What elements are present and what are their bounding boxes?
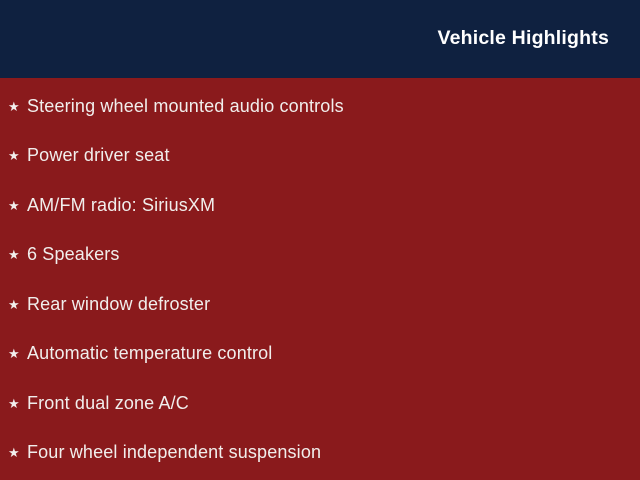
list-item-label: Front dual zone A/C (27, 394, 189, 412)
list-item: ★Rear window defroster (8, 291, 210, 317)
list-item-label: Rear window defroster (27, 295, 210, 313)
vehicle-highlights-slide: Vehicle Highlights ★Steering wheel mount… (0, 0, 640, 480)
list-item-label: Four wheel independent suspension (27, 443, 321, 461)
page-title: Vehicle Highlights (437, 29, 609, 49)
list-item: ★Front dual zone A/C (8, 390, 189, 416)
star-icon: ★ (8, 199, 27, 212)
star-icon: ★ (8, 149, 27, 162)
list-item: ★6 Speakers (8, 241, 120, 267)
list-item-label: Automatic temperature control (27, 344, 272, 362)
list-item-label: Steering wheel mounted audio controls (27, 97, 344, 115)
star-icon: ★ (8, 446, 27, 459)
slide-body: ★Steering wheel mounted audio controls★P… (0, 78, 640, 480)
star-icon: ★ (8, 100, 27, 113)
list-item-label: AM/FM radio: SiriusXM (27, 196, 215, 214)
list-item: ★Automatic temperature control (8, 340, 272, 366)
star-icon: ★ (8, 347, 27, 360)
star-icon: ★ (8, 397, 27, 410)
list-item: ★Steering wheel mounted audio controls (8, 93, 344, 119)
star-icon: ★ (8, 248, 27, 261)
list-item: ★Power driver seat (8, 142, 170, 168)
list-item: ★AM/FM radio: SiriusXM (8, 192, 215, 218)
slide-header: Vehicle Highlights (0, 0, 640, 78)
list-item: ★Four wheel independent suspension (8, 439, 321, 465)
list-item-label: Power driver seat (27, 146, 170, 164)
star-icon: ★ (8, 298, 27, 311)
list-item-label: 6 Speakers (27, 245, 120, 263)
